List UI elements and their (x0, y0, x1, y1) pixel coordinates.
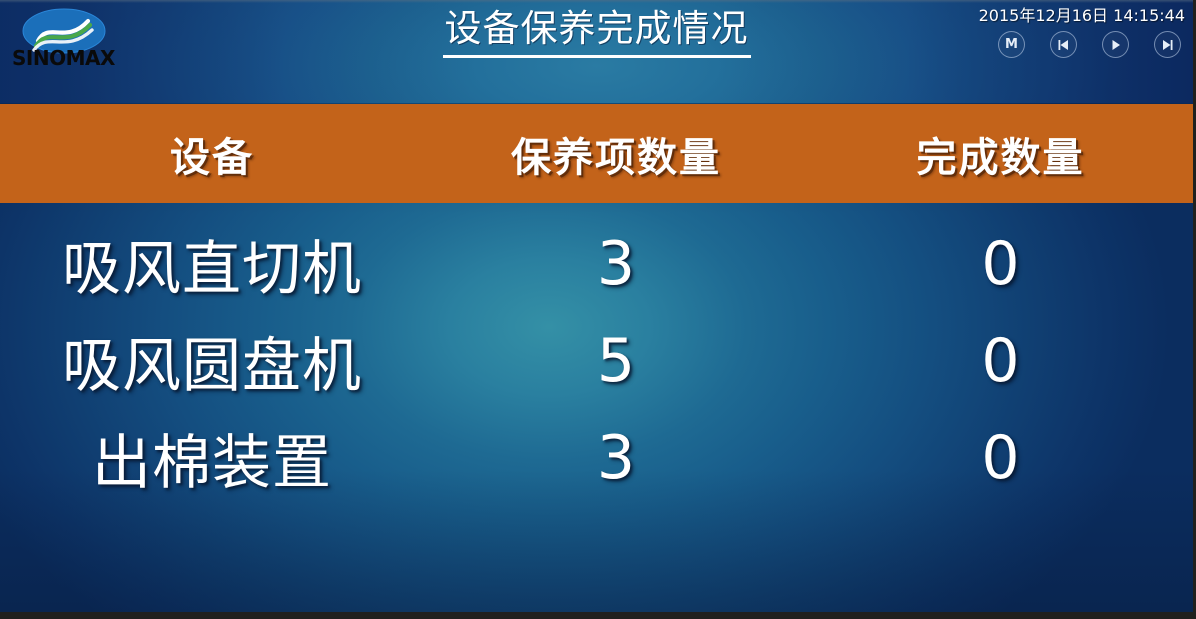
cell-device: 吸风圆盘机 (0, 318, 424, 403)
table-body: 吸风直切机 3 0 吸风圆盘机 5 0 出棉装置 3 0 (0, 215, 1193, 506)
cell-completed-items: 0 (808, 229, 1193, 299)
next-button[interactable] (1154, 31, 1181, 58)
datetime-display: 2015年12月16日 14:15:44 (979, 2, 1185, 26)
cell-maintenance-items: 3 (424, 423, 808, 493)
svg-text:SINOMAX: SINOMAX (12, 46, 116, 70)
cell-maintenance-items: 3 (424, 229, 808, 299)
previous-button[interactable] (1050, 31, 1077, 58)
cell-completed-items: 0 (808, 326, 1193, 396)
table-row: 吸风直切机 3 0 (0, 215, 1193, 312)
table-row: 吸风圆盘机 5 0 (0, 312, 1193, 409)
maintenance-dashboard-screen: SINOMAX 设备保养完成情况 2015年12月16日 14:15:44 M (0, 0, 1196, 619)
cell-completed-items: 0 (808, 423, 1193, 493)
table-header-row: 设备 保养项数量 完成数量 (0, 104, 1193, 203)
cell-maintenance-items: 5 (424, 326, 808, 396)
top-header-bar: SINOMAX 设备保养完成情况 2015年12月16日 14:15:44 M (0, 0, 1193, 103)
cell-device: 出棉装置 (0, 415, 424, 500)
page-title-text: 设备保养完成情况 (443, 6, 751, 58)
column-header-device: 设备 (0, 125, 424, 183)
sinomax-logo: SINOMAX (4, 4, 132, 72)
next-icon (1161, 39, 1174, 51)
play-icon (1109, 39, 1122, 51)
playback-controls: M (998, 31, 1181, 58)
menu-button[interactable]: M (998, 31, 1025, 58)
table-row: 出棉装置 3 0 (0, 409, 1193, 506)
previous-icon (1057, 39, 1070, 51)
play-button[interactable] (1102, 31, 1129, 58)
column-header-maintenance-items: 保养项数量 (424, 125, 808, 183)
cell-device: 吸风直切机 (0, 221, 424, 306)
column-header-completed-items: 完成数量 (808, 125, 1193, 183)
m-icon: M (1005, 38, 1018, 51)
